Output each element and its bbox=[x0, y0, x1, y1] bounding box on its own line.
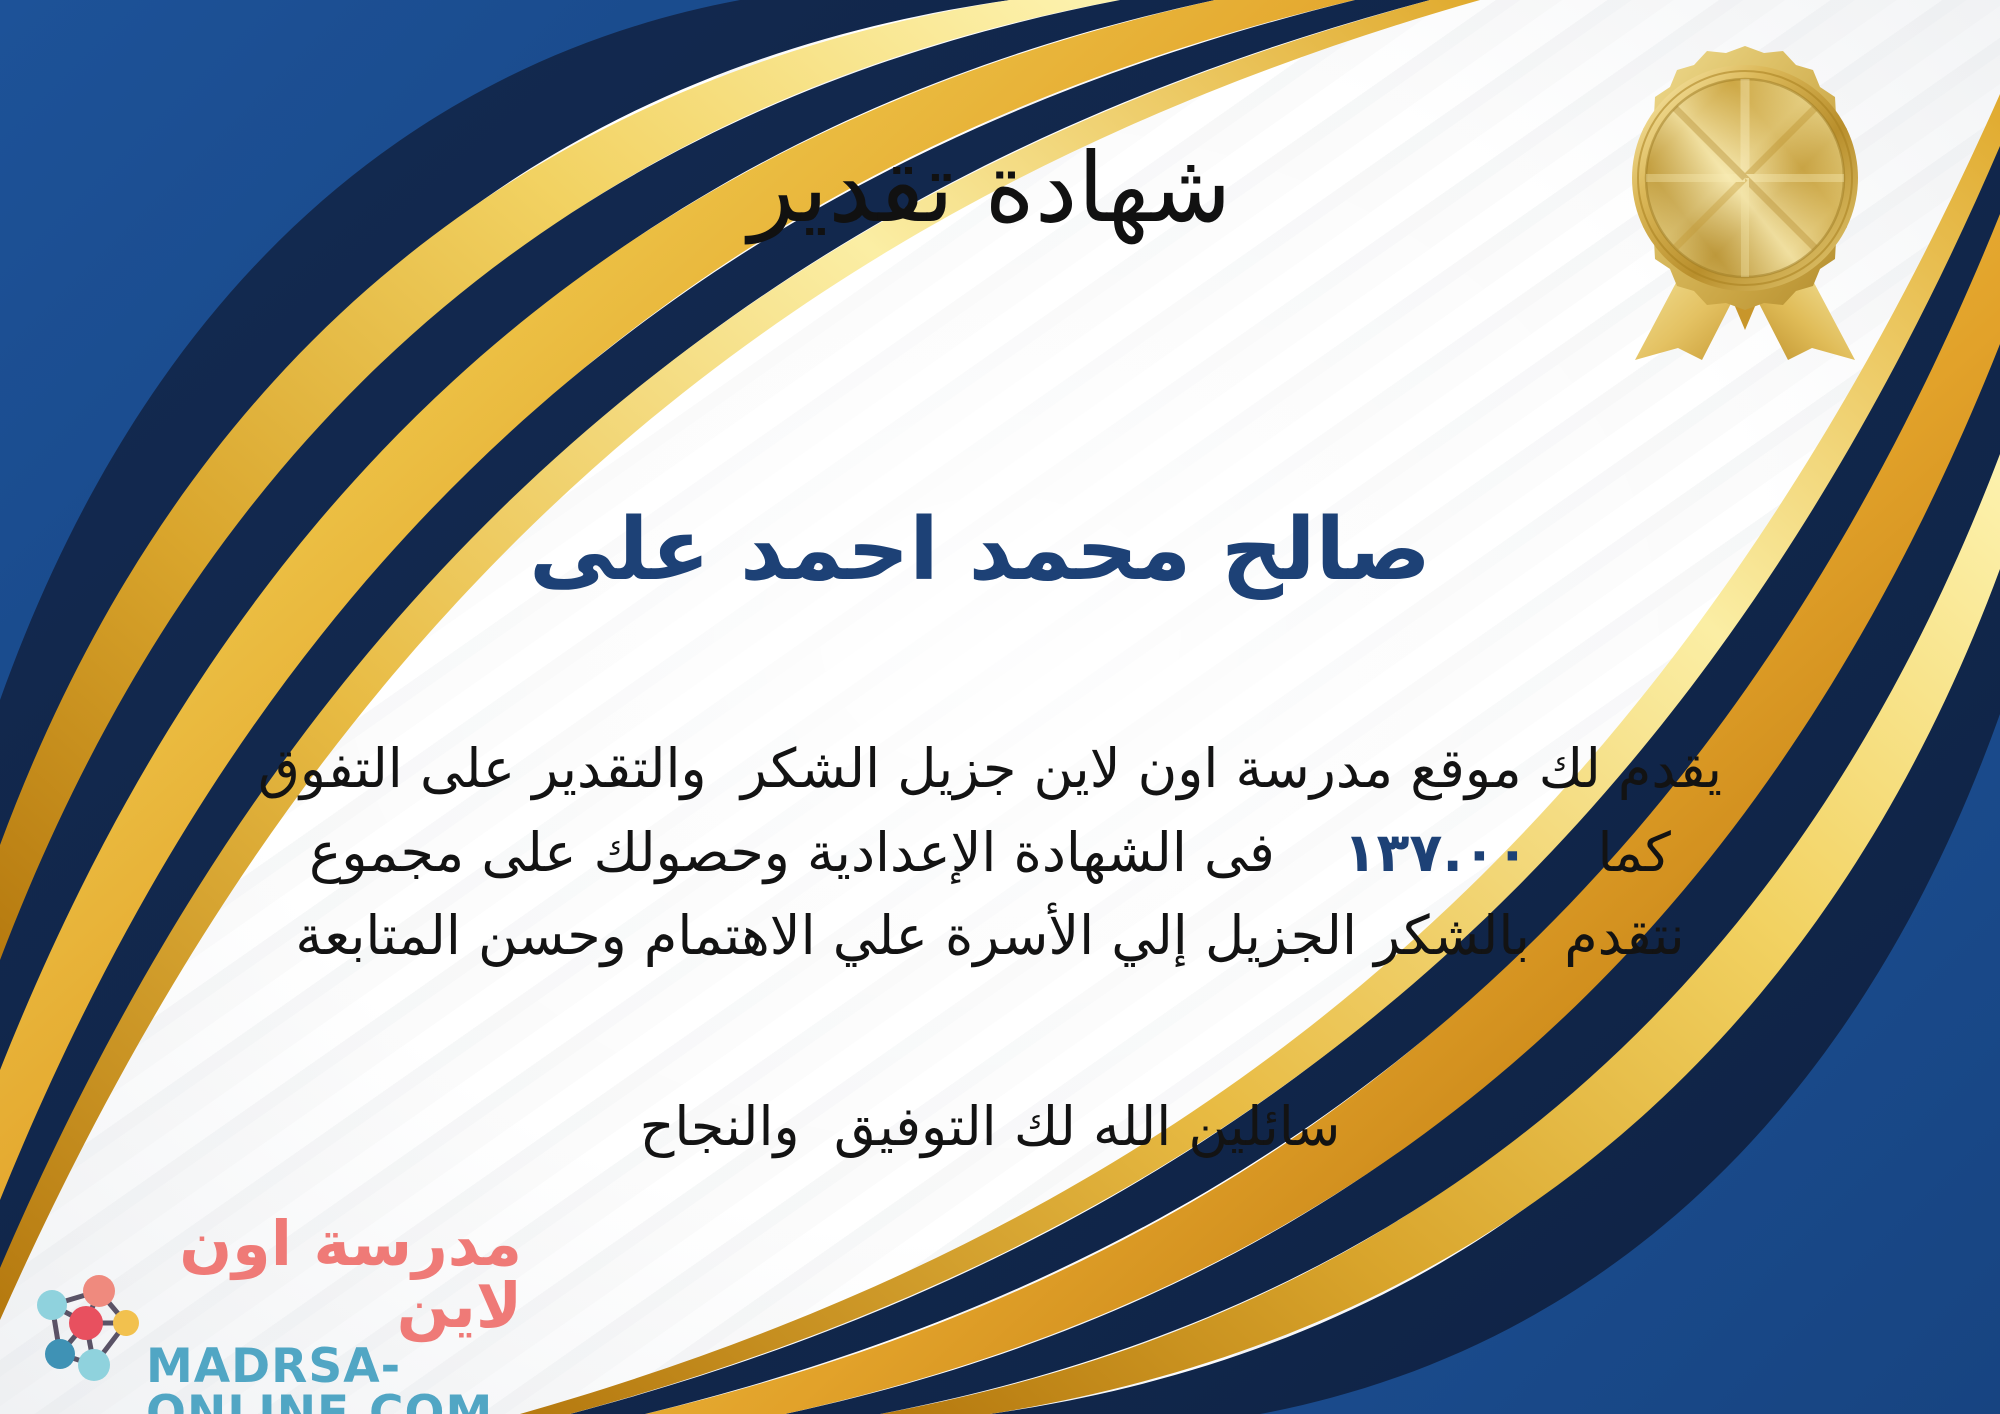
logo-arabic-name: مدرسة اون لاين bbox=[146, 1213, 522, 1337]
logo-text-group: مدرسة اون لاين MADRSA-ONLINE.COM bbox=[146, 1213, 522, 1414]
network-nodes-icon bbox=[22, 1261, 140, 1389]
score-value: ١٣٧.٠٠ bbox=[1344, 821, 1529, 884]
certificate-content: شهادة تقدير صالح محمد احمد على يقدم لك م… bbox=[0, 0, 2000, 1414]
body-line-2: كما ١٣٧.٠٠ فى الشهادة الإعدادية وحصولك ع… bbox=[40, 811, 1940, 895]
certificate-body: يقدم لك موقع مدرسة اون لاين جزيل الشكر و… bbox=[40, 727, 1940, 978]
certificate-canvas: شهادة تقدير صالح محمد احمد على يقدم لك م… bbox=[0, 0, 2000, 1414]
site-logo[interactable]: مدرسة اون لاين MADRSA-ONLINE.COM bbox=[22, 1250, 522, 1400]
body-line-2-suffix: كما bbox=[1598, 821, 1671, 884]
body-line-3: نتقدم بالشكر الجزيل إلي الأسرة علي الاهت… bbox=[40, 894, 1940, 978]
page-title: شهادة تقدير bbox=[0, 128, 1980, 248]
body-line-1: يقدم لك موقع مدرسة اون لاين جزيل الشكر و… bbox=[40, 727, 1940, 811]
recipient-name: صالح محمد احمد على bbox=[0, 497, 1960, 605]
closing-line: سائلين الله لك التوفيق والنجاح bbox=[40, 1095, 1940, 1158]
logo-domain: MADRSA-ONLINE.COM bbox=[146, 1343, 522, 1414]
body-line-2-prefix: فى الشهادة الإعدادية وحصولك على مجموع bbox=[309, 821, 1275, 884]
